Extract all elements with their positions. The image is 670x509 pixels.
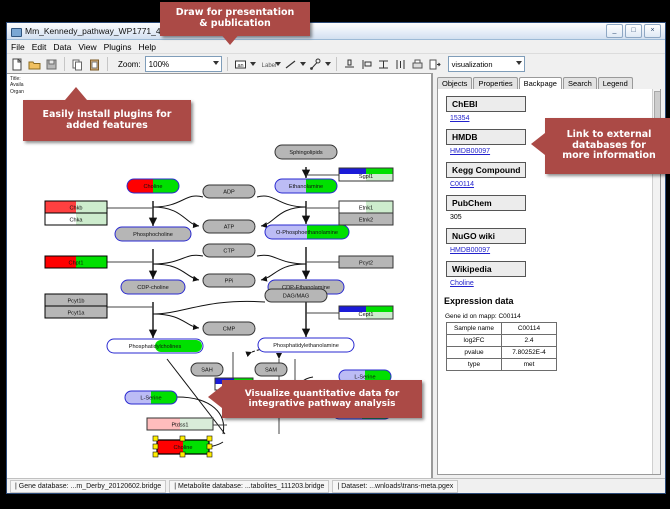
status-dataset: | Dataset: ...wnloads\trans-meta.pgex bbox=[332, 480, 458, 493]
new-file-icon[interactable] bbox=[10, 57, 25, 72]
expression-data-heading: Expression data bbox=[444, 296, 660, 306]
svg-text:PPi: PPi bbox=[225, 279, 234, 285]
save-icon[interactable] bbox=[44, 57, 59, 72]
toolbar-separator-3 bbox=[227, 57, 228, 71]
print-icon[interactable] bbox=[410, 57, 425, 72]
svg-text:Chpt1: Chpt1 bbox=[69, 261, 84, 267]
svg-text:Chka: Chka bbox=[69, 218, 83, 224]
callout-visualize-line2: integrative pathway analysis bbox=[249, 399, 396, 409]
export-icon[interactable] bbox=[427, 57, 442, 72]
callout-plugins-line2: added features bbox=[66, 121, 148, 132]
line-dropdown[interactable] bbox=[300, 62, 306, 66]
db-link-nugo-wiki[interactable]: HMDB00097 bbox=[450, 247, 660, 254]
screenshot-root: Mm_Kennedy_pathway_WP1771_45176.gpml _ □… bbox=[0, 0, 670, 509]
callout-draw: Draw for presentation & publication bbox=[160, 2, 310, 36]
datanode-icon[interactable]: an bbox=[233, 57, 248, 72]
node-etnk1-etnk2: Etnk1 Etnk2 bbox=[339, 201, 393, 225]
svg-text:CMP: CMP bbox=[223, 327, 236, 333]
visualization-value: visualization bbox=[452, 60, 493, 69]
node-sphingolipids: Sphingolipids bbox=[275, 145, 337, 159]
maximize-button[interactable]: □ bbox=[625, 24, 642, 38]
tab-search[interactable]: Search bbox=[563, 77, 597, 89]
callout-plugins-line1: Easily install plugins for bbox=[43, 110, 172, 121]
close-button[interactable]: × bbox=[644, 24, 661, 38]
svg-text:DAG/MAG: DAG/MAG bbox=[283, 294, 309, 300]
tab-properties[interactable]: Properties bbox=[473, 77, 517, 89]
expr-key-sample-name: Sample name bbox=[447, 323, 502, 335]
window-controls: _ □ × bbox=[606, 24, 662, 38]
callout-plugins: Easily install plugins for added feature… bbox=[23, 100, 191, 141]
callout-links-line1: Link to external bbox=[567, 130, 652, 141]
db-block-pubchem: PubChem 305 bbox=[446, 193, 660, 221]
svg-text:Sphingolipids: Sphingolipids bbox=[289, 150, 322, 156]
db-header-wikipedia: Wikipedia bbox=[446, 261, 526, 277]
menu-item-file[interactable]: File bbox=[11, 42, 25, 52]
node-cmp: CMP bbox=[203, 322, 255, 335]
db-block-nugo-wiki: NuGO wiki HMDB00097 bbox=[446, 226, 660, 254]
chevron-down-icon bbox=[213, 61, 219, 65]
node-sam: SAM bbox=[255, 363, 287, 376]
node-ctp: CTP bbox=[203, 244, 255, 257]
zoom-combobox[interactable]: 100% bbox=[145, 56, 222, 72]
label-icon[interactable]: Label bbox=[258, 57, 273, 72]
expr-key-type: type bbox=[447, 359, 502, 371]
node-dag-mag: DAG/MAG bbox=[265, 289, 327, 302]
toolbar-separator-4 bbox=[336, 57, 337, 71]
expr-val-log2fc: 2.4 bbox=[502, 335, 557, 347]
node-ptdss1: Ptdss1 bbox=[147, 418, 213, 430]
copy-icon[interactable] bbox=[70, 57, 85, 72]
chevron-down-icon bbox=[250, 62, 256, 66]
svg-text:Phosphatidylcholines: Phosphatidylcholines bbox=[129, 344, 182, 350]
node-ppi: PPi bbox=[203, 274, 255, 287]
expr-key-pvalue: pvalue bbox=[447, 347, 502, 359]
svg-text:Label: Label bbox=[261, 63, 276, 69]
callout-visualize: Visualize quantitative data for integrat… bbox=[222, 380, 422, 418]
node-l-serine-left: L-Serine bbox=[125, 391, 177, 404]
tab-legend[interactable]: Legend bbox=[598, 77, 633, 89]
svg-text:SAH: SAH bbox=[201, 368, 213, 374]
svg-text:ATP: ATP bbox=[224, 225, 235, 231]
svg-text:SAM: SAM bbox=[265, 368, 277, 374]
node-phosphatidylcholines: Phosphatidylcholines bbox=[107, 339, 203, 353]
table-row: pvalue 7.80252E-4 bbox=[447, 347, 557, 359]
svg-text:Chkb: Chkb bbox=[69, 206, 82, 212]
db-link-kegg-compound[interactable]: C00114 bbox=[450, 181, 660, 188]
callout-visualize-line1: Visualize quantitative data for bbox=[245, 389, 400, 399]
node-cdp-choline: CDP-choline bbox=[121, 280, 185, 294]
tab-objects[interactable]: Objects bbox=[437, 77, 472, 89]
anchor-icon[interactable] bbox=[308, 57, 323, 72]
db-value-pubchem: 305 bbox=[450, 214, 660, 221]
expression-table: Sample name C00114 log2FC 2.4 pvalue 7.8… bbox=[446, 322, 557, 371]
align-top-icon[interactable] bbox=[342, 57, 357, 72]
node-cept1: Cept1 bbox=[339, 306, 393, 319]
datanode-dropdown[interactable] bbox=[250, 62, 256, 66]
node-atp: ATP bbox=[203, 220, 255, 233]
node-sah: SAH bbox=[191, 363, 223, 376]
callout-draw-line2: & publication bbox=[199, 19, 271, 30]
svg-text:CDP-choline: CDP-choline bbox=[137, 285, 168, 291]
application-window: Mm_Kennedy_pathway_WP1771_45176.gpml _ □… bbox=[6, 22, 666, 494]
toolbar-separator-2 bbox=[107, 57, 108, 71]
status-bar: | Gene database: ...m_Derby_20120602.bri… bbox=[7, 478, 665, 493]
node-sgpl1: Sgpl1 bbox=[339, 168, 393, 181]
pathway-canvas[interactable]: Title: Availa Organ bbox=[7, 73, 432, 479]
toolbar-separator bbox=[64, 57, 65, 71]
db-block-wikipedia: Wikipedia Choline bbox=[446, 259, 660, 287]
node-pcyt1b-pcyt1a: Pcyt1b Pcyt1a bbox=[45, 294, 107, 318]
line-icon[interactable] bbox=[283, 57, 298, 72]
svg-text:Etnk2: Etnk2 bbox=[359, 218, 373, 224]
table-row: Sample name C00114 bbox=[447, 323, 557, 335]
menu-item-help[interactable]: Help bbox=[139, 42, 156, 52]
canvas-availability-label: Availa bbox=[10, 82, 24, 88]
svg-text:Ethanolamine: Ethanolamine bbox=[289, 184, 323, 190]
svg-text:Pcyt2: Pcyt2 bbox=[359, 261, 373, 267]
svg-text:CTP: CTP bbox=[223, 249, 234, 255]
paste-icon[interactable] bbox=[87, 57, 102, 72]
menu-item-plugins[interactable]: Plugins bbox=[104, 42, 132, 52]
status-gene-database: | Gene database: ...m_Derby_20120602.bri… bbox=[10, 480, 166, 493]
zoom-label: Zoom: bbox=[118, 60, 141, 69]
menu-item-edit[interactable]: Edit bbox=[32, 42, 47, 52]
db-header-hmdb: HMDB bbox=[446, 129, 526, 145]
node-phosphatidylethanolamine: Phosphatidylethanolamine bbox=[258, 338, 354, 352]
node-chkb-chka: Chkb Chka bbox=[45, 201, 107, 225]
node-chpt1: Chpt1 bbox=[45, 256, 107, 268]
node-adp: ADP bbox=[203, 185, 255, 198]
chevron-down-icon bbox=[300, 62, 306, 66]
svg-text:Ptdss1: Ptdss1 bbox=[171, 423, 188, 429]
node-phosphocholine: Phosphocholine bbox=[115, 227, 191, 241]
node-choline-top: Choline bbox=[127, 179, 179, 193]
svg-text:Phosphatidylethanolamine: Phosphatidylethanolamine bbox=[273, 343, 339, 349]
svg-text:an: an bbox=[237, 62, 243, 68]
app-icon bbox=[10, 26, 21, 37]
callout-links-line3: more information bbox=[562, 151, 656, 162]
node-choline-selected: Choline bbox=[153, 436, 212, 457]
expr-key-log2fc: log2FC bbox=[447, 335, 502, 347]
svg-text:Etnk1: Etnk1 bbox=[359, 206, 373, 212]
align-left-icon[interactable] bbox=[359, 57, 374, 72]
gene-id-on-mapp: Gene id on mapp: C00114 bbox=[445, 313, 660, 320]
visualization-combobox[interactable]: visualization bbox=[448, 56, 525, 72]
table-row: type met bbox=[447, 359, 557, 371]
menu-bar: File Edit Data View Plugins Help bbox=[7, 40, 665, 54]
callout-plugins-arrow-icon bbox=[65, 87, 87, 100]
svg-text:Cept1: Cept1 bbox=[359, 312, 374, 318]
svg-text:Choline: Choline bbox=[144, 184, 163, 190]
canvas-info-header: Title: Availa Organ bbox=[10, 76, 24, 95]
zoom-value: 100% bbox=[149, 60, 169, 69]
chevron-down-icon bbox=[325, 62, 331, 66]
svg-text:Sgpl1: Sgpl1 bbox=[359, 174, 373, 180]
svg-text:ADP: ADP bbox=[223, 190, 235, 196]
expr-val-pvalue: 7.80252E-4 bbox=[502, 347, 557, 359]
callout-links: Link to external databases for more info… bbox=[545, 118, 670, 174]
callout-visualize-arrow-icon bbox=[208, 386, 222, 408]
svg-text:Choline: Choline bbox=[174, 445, 193, 451]
chevron-down-icon bbox=[516, 61, 522, 65]
side-pane-tabs: Objects Properties Backpage Search Legen… bbox=[437, 76, 661, 90]
node-ethanolamine-top: Ethanolamine bbox=[275, 179, 337, 193]
expr-val-sample-name: C00114 bbox=[502, 323, 557, 335]
svg-text:Phosphocholine: Phosphocholine bbox=[133, 232, 173, 238]
stack-icon[interactable] bbox=[376, 57, 391, 72]
open-folder-icon[interactable] bbox=[27, 57, 42, 72]
db-header-nugo-wiki: NuGO wiki bbox=[446, 228, 526, 244]
expr-val-type: met bbox=[502, 359, 557, 371]
minimize-button[interactable]: _ bbox=[606, 24, 623, 38]
menu-item-data[interactable]: Data bbox=[53, 42, 71, 52]
anchor-dropdown[interactable] bbox=[325, 62, 331, 66]
status-metabolite-database: | Metabolite database: ...tabolites_1112… bbox=[169, 480, 329, 493]
svg-text:L-Serine: L-Serine bbox=[140, 396, 161, 402]
svg-text:Pcyt1a: Pcyt1a bbox=[67, 311, 85, 317]
node-o-phosphoethanolamine: O-Phosphoethanolamine bbox=[265, 225, 349, 239]
db-link-wikipedia[interactable]: Choline bbox=[450, 280, 660, 287]
db-header-pubchem: PubChem bbox=[446, 195, 526, 211]
canvas-organism-label: Organ bbox=[10, 89, 24, 95]
svg-text:Pcyt1b: Pcyt1b bbox=[67, 299, 84, 305]
callout-links-arrow-icon bbox=[531, 133, 545, 155]
callout-draw-arrow-icon bbox=[219, 32, 241, 45]
title-bar: Mm_Kennedy_pathway_WP1771_45176.gpml _ □… bbox=[7, 23, 665, 40]
svg-text:O-Phosphoethanolamine: O-Phosphoethanolamine bbox=[276, 230, 338, 236]
db-header-kegg-compound: Kegg Compound bbox=[446, 162, 526, 178]
toolbar: Zoom: 100% an Label bbox=[7, 54, 665, 75]
db-header-chebi: ChEBI bbox=[446, 96, 526, 112]
node-pcyt2: Pcyt2 bbox=[339, 256, 393, 268]
distribute-icon[interactable] bbox=[393, 57, 408, 72]
table-row: log2FC 2.4 bbox=[447, 335, 557, 347]
menu-item-view[interactable]: View bbox=[78, 42, 96, 52]
